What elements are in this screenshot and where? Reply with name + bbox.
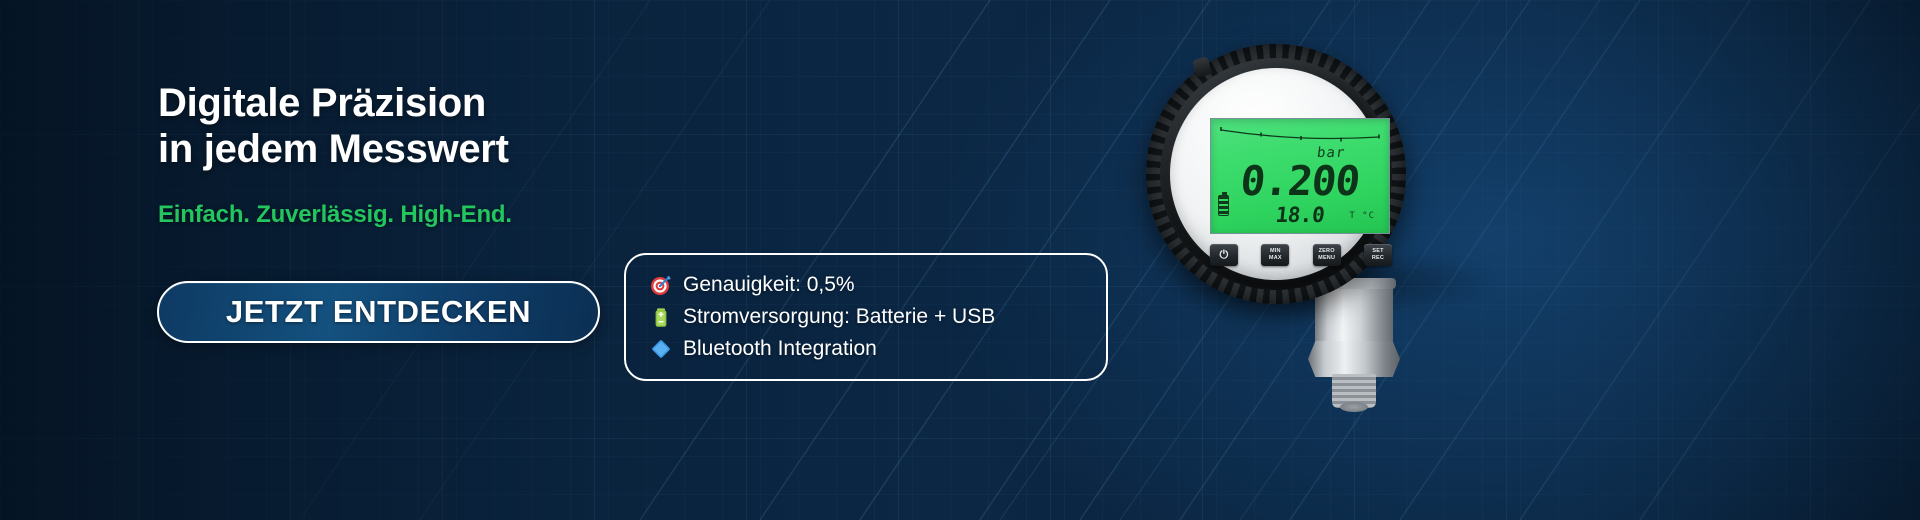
gauge-lcd-display: bar 0.200 18.0 T °C	[1210, 118, 1390, 234]
lcd-battery-icon	[1218, 195, 1229, 216]
gauge-power-button[interactable]: ⏻	[1210, 244, 1238, 266]
list-item: Bluetooth Integration	[650, 334, 1086, 364]
gauge-top-tab	[1192, 56, 1212, 78]
lcd-secondary-unit: T °C	[1349, 211, 1375, 221]
power-icon: ⏻	[1220, 250, 1229, 261]
button-line-1: MIN	[1270, 248, 1281, 255]
blue-diamond-icon	[650, 338, 672, 360]
gauge-minmax-button[interactable]: MIN MAX	[1261, 244, 1289, 266]
list-item: Stromversorgung: Batterie + USB	[650, 302, 1086, 332]
gauge-hex-nut	[1308, 341, 1400, 377]
button-line-2: REC	[1372, 255, 1384, 262]
list-item: Genauigkeit: 0,5%	[650, 270, 1086, 300]
button-line-2: MAX	[1269, 255, 1282, 262]
page-subtitle: Einfach. Zuverlässig. High-End.	[158, 201, 512, 229]
feature-text: Bluetooth Integration	[683, 337, 877, 361]
gauge-setrec-button[interactable]: SET REC	[1364, 244, 1392, 266]
feature-list: Genauigkeit: 0,5% Stromversorgung: Batte…	[624, 253, 1108, 381]
gauge-thread	[1332, 374, 1376, 408]
gauge-face: bar 0.200 18.0 T °C ⏻ MIN MAX ZERO	[1170, 68, 1382, 280]
lcd-bargraph	[1219, 126, 1381, 148]
button-line-1: SET	[1372, 248, 1383, 255]
button-line-1: ZERO	[1319, 248, 1335, 255]
gauge-zeromenu-button[interactable]: ZERO MENU	[1313, 244, 1341, 266]
target-icon	[650, 274, 672, 296]
product-image-gauge: bar 0.200 18.0 T °C ⏻ MIN MAX ZERO	[1120, 18, 1600, 438]
gauge-bezel: bar 0.200 18.0 T °C ⏻ MIN MAX ZERO	[1146, 44, 1406, 304]
button-line-2: MENU	[1318, 255, 1335, 262]
page-title: Digitale Präzision in jedem Messwert	[158, 80, 509, 172]
cta-label: JETZT ENTDECKEN	[226, 294, 531, 330]
cta-discover-button[interactable]: JETZT ENTDECKEN	[157, 281, 600, 343]
promo-banner: Digitale Präzision in jedem Messwert Ein…	[0, 0, 1920, 520]
feature-text: Genauigkeit: 0,5%	[683, 273, 855, 297]
lcd-value: 0.200	[1210, 159, 1390, 203]
gauge-button-row: ⏻ MIN MAX ZERO MENU SET REC	[1210, 244, 1392, 266]
battery-icon	[650, 306, 672, 328]
feature-text: Stromversorgung: Batterie + USB	[683, 305, 995, 329]
